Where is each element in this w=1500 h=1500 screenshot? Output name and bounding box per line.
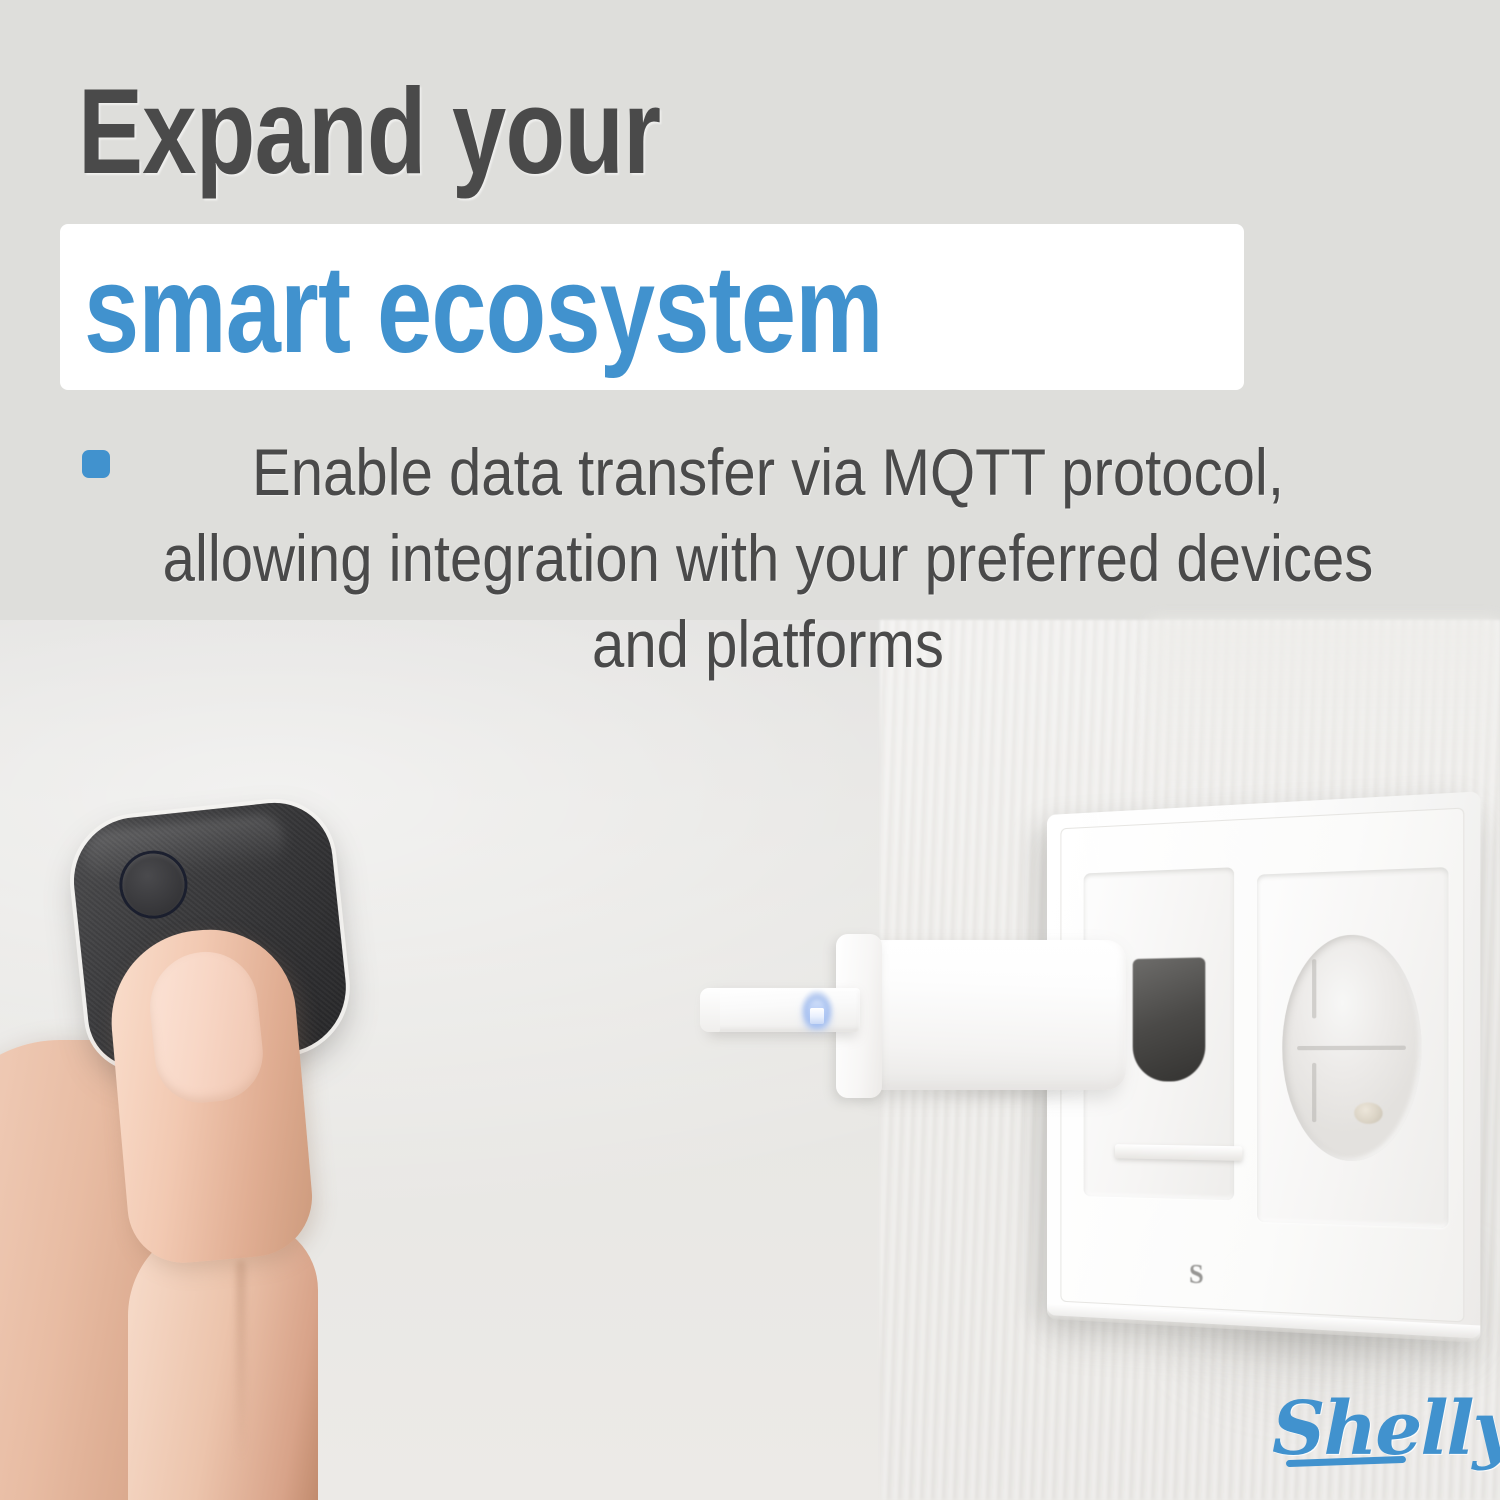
bullet-square-icon	[82, 450, 110, 478]
wall-socket-right	[1257, 867, 1448, 1228]
hand-crease	[236, 1260, 246, 1460]
hand-holding-remote	[0, 790, 430, 1500]
smart-plug-switch	[710, 988, 860, 1032]
socket-screw	[1354, 1102, 1382, 1124]
smart-plug-switch-tip	[700, 988, 720, 1032]
socket-slot-upper	[1312, 959, 1316, 1018]
marketing-banner: S	[0, 0, 1500, 1500]
shelly-logo: Shelly	[1272, 1392, 1500, 1466]
socket-slot-horizontal	[1297, 1046, 1406, 1051]
smart-plug-led-icon	[810, 1008, 824, 1024]
hand-knuckle	[128, 1220, 318, 1500]
headline-line-1: Expand your	[78, 70, 660, 192]
headline-line-2: smart ecosystem	[84, 248, 883, 372]
smart-plug-highlight	[878, 940, 1116, 968]
socket-brand-mark-icon: S	[1189, 1261, 1204, 1289]
socket-left-lip	[1115, 1144, 1243, 1161]
socket-slot-lower	[1312, 1063, 1316, 1122]
socket-right-well	[1282, 933, 1421, 1162]
bullet-text: Enable data transfer via MQTT protocol, …	[161, 430, 1375, 687]
smart-plug	[700, 930, 1170, 1130]
